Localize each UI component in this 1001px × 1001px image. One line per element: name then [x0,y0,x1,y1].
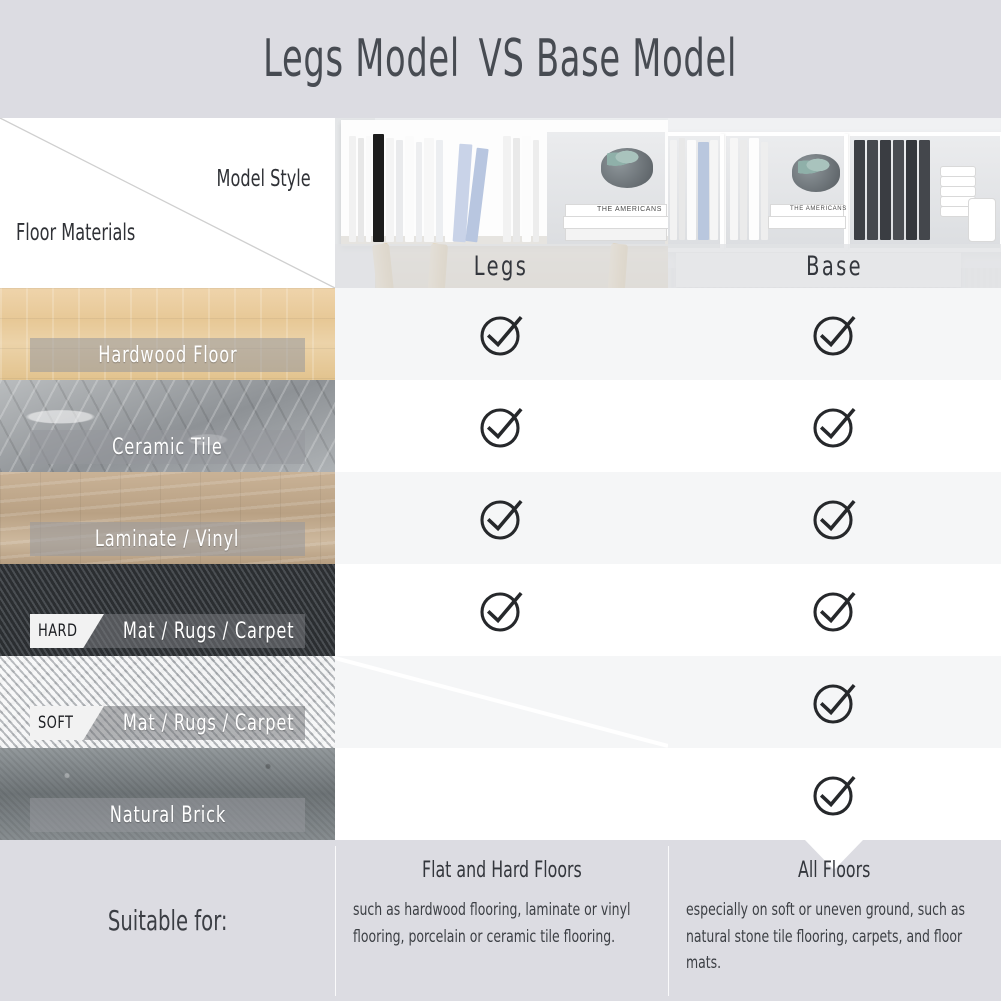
floor-material-label: Ceramic Tile [112,435,223,460]
legs-caption: Legs [474,251,528,282]
table-row: HARDMat / Rugs / Carpet [0,564,1001,656]
check-circle-icon [475,399,529,453]
floor-material-label: Mat / Rugs / Carpet [123,619,295,644]
base-caption: Base [806,251,863,282]
check-container [335,472,668,564]
legs-header-cell: THE AMERICANS Legs [335,118,668,288]
check-container [668,380,1001,472]
floor-material-label: Natural Brick [109,803,225,828]
base-footer-cell: All Floors especially on soft or uneven … [668,840,1001,1001]
check-circle-icon [475,307,529,361]
floor-label-bar: Natural Brick [30,798,305,832]
base-caption-bar: Base [668,244,1001,288]
check-circle-icon [808,583,862,637]
base-cell-2 [668,472,1001,564]
floor-material-cell-4: SOFTMat / Rugs / Carpet [0,656,335,748]
floor-label-bar: SOFTMat / Rugs / Carpet [30,706,305,740]
title-vs: VS [479,29,525,89]
corner-header-cell: Model Style Floor Materials [0,118,335,288]
diagonal-strike-line [335,656,668,748]
hardness-badge: SOFT [30,706,104,740]
table-row: Ceramic Tile [0,380,1001,472]
suitable-for-label: Suitable for: [108,904,228,937]
legs-footer-heading: Flat and Hard Floors [353,858,650,883]
legs-product-photo: THE AMERICANS Legs [335,118,668,288]
check-circle-icon [475,583,529,637]
model-style-label: Model Style [217,166,311,192]
check-circle-icon [808,767,862,821]
floor-label-bar: Ceramic Tile [30,430,305,464]
table-row: SOFTMat / Rugs / Carpet [0,656,1001,748]
suitable-for-label-cell: Suitable for: [0,840,335,1001]
base-cell-3 [668,564,1001,656]
hardness-badge-label: HARD [38,621,77,641]
check-container [335,288,668,380]
check-circle-icon [475,491,529,545]
check-container [668,288,1001,380]
legs-cell-5 [335,748,668,840]
diagonal-strike-line [335,748,668,840]
base-product-photo: THE AMERICANS [668,118,1001,288]
base-cell-0 [668,288,1001,380]
floor-material-cell-5: Natural Brick [0,748,335,840]
base-cell-1 [668,380,1001,472]
corner-diagonal-divider [0,118,335,288]
floor-material-cell-1: Ceramic Tile [0,380,335,472]
floor-material-label: Hardwood Floor [98,343,237,368]
legs-cell-2 [335,472,668,564]
title-left: Legs Model [264,29,461,89]
legs-cell-0 [335,288,668,380]
title-right: Base Model [536,29,737,89]
floor-materials-label: Floor Materials [16,220,135,246]
check-container [668,564,1001,656]
check-container [668,656,1001,748]
legs-footer-body: such as hardwood flooring, laminate or v… [353,897,650,950]
comparison-table: Model Style Floor Materials [0,118,1001,840]
base-cell-4 [668,656,1001,748]
floor-material-label: Mat / Rugs / Carpet [123,711,295,736]
check-container [668,472,1001,564]
table-header-row: Model Style Floor Materials [0,118,1001,288]
comparison-infographic: Legs ModelVS Base Model Model Style Floo… [0,0,1001,1001]
legs-cell-3 [335,564,668,656]
hardness-badge-label: SOFT [38,713,73,733]
check-circle-icon [808,491,862,545]
floor-material-label: Laminate / Vinyl [95,527,239,552]
floor-material-cell-3: HARDMat / Rugs / Carpet [0,564,335,656]
check-circle-icon [808,399,862,453]
legs-footer-cell: Flat and Hard Floors such as hardwood fl… [335,840,668,1001]
table-body: Hardwood FloorCeramic TileLaminate / Vin… [0,288,1001,840]
page-title: Legs ModelVS Base Model [264,29,738,89]
base-cell-5 [668,748,1001,840]
floor-label-bar: Hardwood Floor [30,338,305,372]
legs-cell-1 [335,380,668,472]
base-footer-heading: All Floors [686,858,983,883]
check-container [335,564,668,656]
table-row: Laminate / Vinyl [0,472,1001,564]
check-container [668,748,1001,840]
title-bar: Legs ModelVS Base Model [0,0,1001,118]
table-row: Hardwood Floor [0,288,1001,380]
base-footer-body: especially on soft or uneven ground, suc… [686,897,983,977]
check-circle-icon [808,675,862,729]
check-container [335,380,668,472]
floor-label-bar: HARDMat / Rugs / Carpet [30,614,305,648]
legs-caption-bar: Legs [335,244,668,288]
table-row: Natural Brick [0,748,1001,840]
base-header-cell: THE AMERICANS [668,118,1001,288]
legs-cell-4 [335,656,668,748]
hardness-badge: HARD [30,614,104,648]
floor-material-cell-0: Hardwood Floor [0,288,335,380]
floor-material-cell-2: Laminate / Vinyl [0,472,335,564]
floor-label-bar: Laminate / Vinyl [30,522,305,556]
check-circle-icon [808,307,862,361]
footer-section: Suitable for: Flat and Hard Floors such … [0,840,1001,1001]
